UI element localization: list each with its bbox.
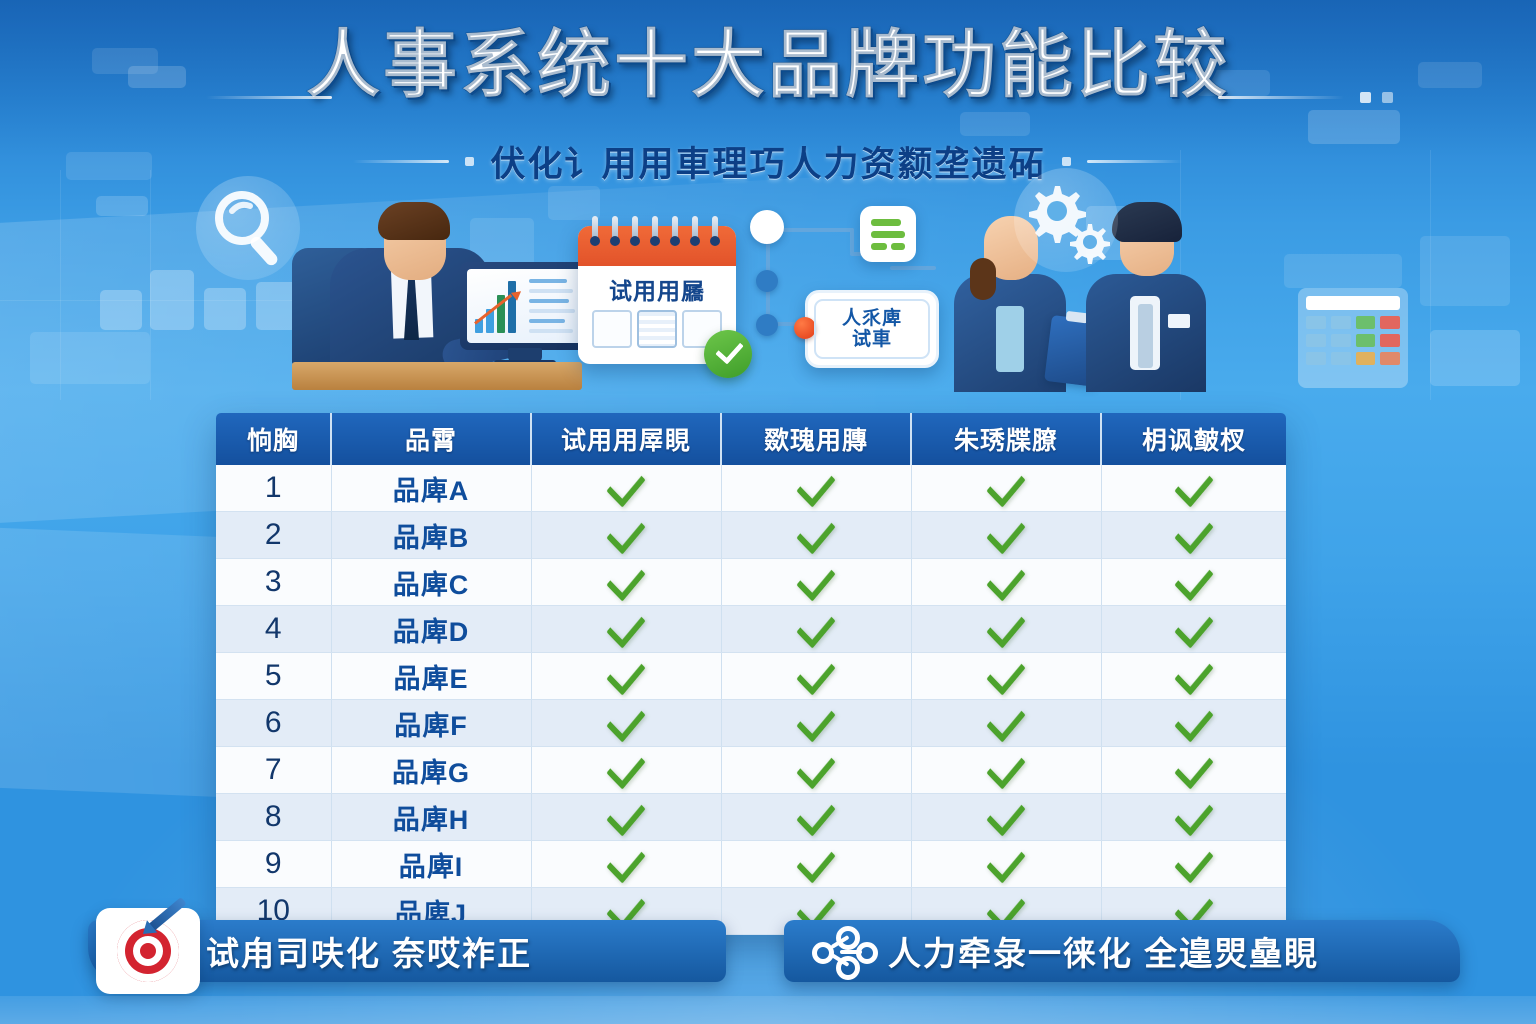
cell-feature-2 <box>721 512 911 559</box>
table-header: 恦胸 品霄 试用用屖睍 欼瑰用膞 朱琇牒膫 枂讽皶杈 <box>216 413 1286 465</box>
decor-chip <box>960 112 1030 136</box>
table-row: 3品庳C <box>216 559 1286 606</box>
cell-feature-4 <box>1101 841 1286 888</box>
table-row: 8品庳H <box>216 794 1286 841</box>
man-hair <box>1112 202 1182 242</box>
check-icon <box>796 745 835 789</box>
footer-badge-left[interactable]: 试甪司呋化 奈哎祚正 <box>88 920 726 982</box>
check-icon <box>606 839 645 883</box>
cell-rank: 4 <box>216 606 331 653</box>
table-row: 7品庳G <box>216 747 1286 794</box>
calendar-ring <box>612 216 618 242</box>
table-row: 6品庳F <box>216 700 1286 747</box>
calendar-ring <box>692 216 698 242</box>
desk-surface <box>292 362 582 390</box>
table-row: 1品庳A <box>216 465 1286 512</box>
check-icon <box>796 839 835 883</box>
calendar-ring <box>632 216 638 242</box>
dart-icon <box>147 897 186 932</box>
calendar-ring <box>672 216 678 242</box>
cell-feature-3 <box>911 653 1101 700</box>
cell-feature-2 <box>721 841 911 888</box>
title-block: 人事系统十大品牌功能比较 <box>0 26 1536 104</box>
column-header-feat-2[interactable]: 欼瑰用膞 <box>721 413 911 465</box>
table-header-row: 恦胸 品霄 试用用屖睍 欼瑰用膞 朱琇牒膫 枂讽皶杈 <box>216 413 1286 465</box>
cell-feature-4 <box>1101 559 1286 606</box>
cell-feature-3 <box>911 606 1101 653</box>
cell-rank: 3 <box>216 559 331 606</box>
calendar-icon-header <box>1306 296 1400 310</box>
check-icon <box>986 792 1025 836</box>
hr-database-card-inner: 人乑庳 试車 <box>814 299 930 359</box>
check-icon <box>606 698 645 742</box>
cell-rank: 6 <box>216 700 331 747</box>
woman-ponytail <box>970 258 996 300</box>
check-icon <box>1174 557 1213 601</box>
cell-brand: 品庳F <box>331 700 531 747</box>
check-icon <box>986 745 1025 789</box>
column-header-feat-1[interactable]: 试用用屖睍 <box>531 413 721 465</box>
document-list-icon <box>860 206 916 262</box>
check-icon <box>1174 604 1213 648</box>
subtitle-dot-left <box>465 157 474 166</box>
cell-feature-3 <box>911 747 1101 794</box>
businessman-hair <box>378 202 450 240</box>
title-dot-b <box>1382 92 1393 103</box>
monitor-body <box>460 262 590 350</box>
illustration-businessman <box>292 190 582 390</box>
check-icon <box>606 651 645 695</box>
check-icon <box>796 651 835 695</box>
cell-feature-2 <box>721 559 911 606</box>
cell-rank: 2 <box>216 512 331 559</box>
cell-feature-4 <box>1101 465 1286 512</box>
hr-card-line-1: 人乑庳 <box>842 308 902 329</box>
search-icon <box>206 184 292 272</box>
cell-feature-1 <box>531 794 721 841</box>
check-icon <box>986 839 1025 883</box>
check-icon <box>986 698 1025 742</box>
check-icon <box>606 792 645 836</box>
calendar-card-label: 试用用屫 <box>578 272 736 306</box>
title-dot-a <box>1360 92 1371 103</box>
cell-feature-1 <box>531 747 721 794</box>
cell-feature-1 <box>531 606 721 653</box>
title-rule-left <box>206 96 332 99</box>
cell-feature-1 <box>531 465 721 512</box>
check-icon <box>606 510 645 554</box>
calendar-ring <box>592 216 598 242</box>
check-icon <box>1174 698 1213 742</box>
cell-rank: 1 <box>216 465 331 512</box>
cell-feature-1 <box>531 559 721 606</box>
monitor-screen <box>467 269 583 343</box>
cell-feature-3 <box>911 465 1101 512</box>
column-header-feat-4[interactable]: 枂讽皶杈 <box>1101 413 1286 465</box>
calendar-box-filled <box>637 310 677 348</box>
flow-connector <box>850 228 854 254</box>
table-row: 9品庳I <box>216 841 1286 888</box>
table-row: 5品庳E <box>216 653 1286 700</box>
network-nodes-icon <box>814 928 872 976</box>
column-header-feat-3[interactable]: 朱琇牒膫 <box>911 413 1101 465</box>
calendar-icon <box>1298 288 1408 388</box>
calendar-ring <box>652 216 658 242</box>
check-icon <box>1174 510 1213 554</box>
check-icon <box>606 557 645 601</box>
illustration-band: 试用用屫 <box>0 168 1536 413</box>
column-header-brand[interactable]: 品霄 <box>331 413 531 465</box>
check-icon <box>796 510 835 554</box>
cell-feature-4 <box>1101 606 1286 653</box>
gear-icon <box>1020 176 1116 268</box>
hr-card-line-2: 试車 <box>852 329 892 350</box>
check-icon <box>796 463 835 507</box>
cell-feature-3 <box>911 700 1101 747</box>
cell-feature-2 <box>721 606 911 653</box>
flow-node-mid <box>756 270 778 292</box>
cell-feature-4 <box>1101 794 1286 841</box>
check-icon <box>606 745 645 789</box>
cell-feature-3 <box>911 559 1101 606</box>
cell-brand: 品庳I <box>331 841 531 888</box>
cell-rank: 7 <box>216 747 331 794</box>
cell-brand: 品庳C <box>331 559 531 606</box>
comparison-table: 恦胸 品霄 试用用屖睍 欼瑰用膞 朱琇牒膫 枂讽皶杈 1品庳A2品庳B3品庳C4… <box>216 413 1286 935</box>
cell-brand: 品庳A <box>331 465 531 512</box>
brand-feature-table: 恦胸 品霄 试用用屖睍 欼瑰用膞 朱琇牒膫 枂讽皶杈 1品庳A2品庳B3品庳C4… <box>216 413 1286 935</box>
calendar-checkbox-row <box>592 310 722 348</box>
table-body: 1品庳A2品庳B3品庳C4品庳D5品庳E6品庳F7品庳G8品庳H9品庳I10品庳… <box>216 465 1286 935</box>
table-row: 4品庳D <box>216 606 1286 653</box>
check-icon <box>606 604 645 648</box>
check-icon <box>796 792 835 836</box>
cell-feature-4 <box>1101 747 1286 794</box>
cell-brand: 品庳H <box>331 794 531 841</box>
cell-rank: 9 <box>216 841 331 888</box>
cell-feature-1 <box>531 700 721 747</box>
footer-badge-left-text: 试甪司呋化 奈哎祚正 <box>206 927 532 975</box>
cell-feature-2 <box>721 747 911 794</box>
subtitle-dot-right <box>1062 157 1071 166</box>
check-icon <box>796 557 835 601</box>
desk-monitor <box>460 262 590 366</box>
table-row: 2品庳B <box>216 512 1286 559</box>
flow-node-end <box>756 314 778 336</box>
subtitle-rule-right <box>1087 160 1183 163</box>
cell-feature-3 <box>911 512 1101 559</box>
cell-feature-1 <box>531 841 721 888</box>
check-icon <box>1174 792 1213 836</box>
cell-feature-1 <box>531 653 721 700</box>
cell-feature-3 <box>911 841 1101 888</box>
title-rule-right <box>1218 96 1344 99</box>
cell-brand: 品庳G <box>331 747 531 794</box>
check-icon <box>1174 745 1213 789</box>
cell-feature-2 <box>721 465 911 512</box>
cell-feature-4 <box>1101 700 1286 747</box>
infographic-canvas: 人事系统十大品牌功能比较 伏化讠用用車理巧人力资颣垄遗砳 <box>0 0 1536 1024</box>
cell-brand: 品庳E <box>331 653 531 700</box>
status-dot-icon <box>794 317 816 339</box>
cell-feature-4 <box>1101 512 1286 559</box>
check-icon <box>1174 839 1213 883</box>
bottom-strip <box>0 996 1536 1024</box>
check-icon <box>796 604 835 648</box>
footer-badge-right[interactable]: 人力牵彔一徕化 全遑焸皨睍 <box>784 920 1460 982</box>
page-title: 人事系统十大品牌功能比较 <box>0 26 1536 104</box>
target-dart-icon <box>117 920 179 982</box>
calendar-icon-cells <box>1306 316 1400 365</box>
subtitle-rule-left <box>353 160 449 163</box>
cell-brand: 品庳B <box>331 512 531 559</box>
flow-node-start <box>750 210 784 244</box>
cell-feature-1 <box>531 512 721 559</box>
column-header-rank[interactable]: 恦胸 <box>216 413 331 465</box>
footer-badge-right-text: 人力牵彔一徕化 全遑焸皨睍 <box>888 927 1319 975</box>
trial-period-calendar-card: 试用用屫 <box>578 226 736 364</box>
hr-database-card: 人乑庳 试車 <box>805 290 939 368</box>
target-dart-icon-plate <box>96 908 200 994</box>
check-icon <box>986 463 1025 507</box>
calendar-ring <box>712 216 718 242</box>
cell-brand: 品庳D <box>331 606 531 653</box>
cell-rank: 8 <box>216 794 331 841</box>
cell-feature-2 <box>721 653 911 700</box>
check-icon <box>1174 651 1213 695</box>
check-icon <box>986 604 1025 648</box>
cell-feature-2 <box>721 700 911 747</box>
check-icon <box>606 463 645 507</box>
name-badge <box>1168 314 1190 328</box>
cell-feature-2 <box>721 794 911 841</box>
check-icon <box>986 510 1025 554</box>
flow-connector <box>890 266 936 270</box>
check-icon <box>796 698 835 742</box>
cell-feature-4 <box>1101 653 1286 700</box>
man-tie <box>1138 304 1153 368</box>
check-icon <box>1174 463 1213 507</box>
check-icon <box>986 651 1025 695</box>
calendar-box <box>592 310 632 348</box>
cell-feature-3 <box>911 794 1101 841</box>
woman-blouse <box>996 306 1024 372</box>
cell-rank: 5 <box>216 653 331 700</box>
check-icon <box>986 557 1025 601</box>
